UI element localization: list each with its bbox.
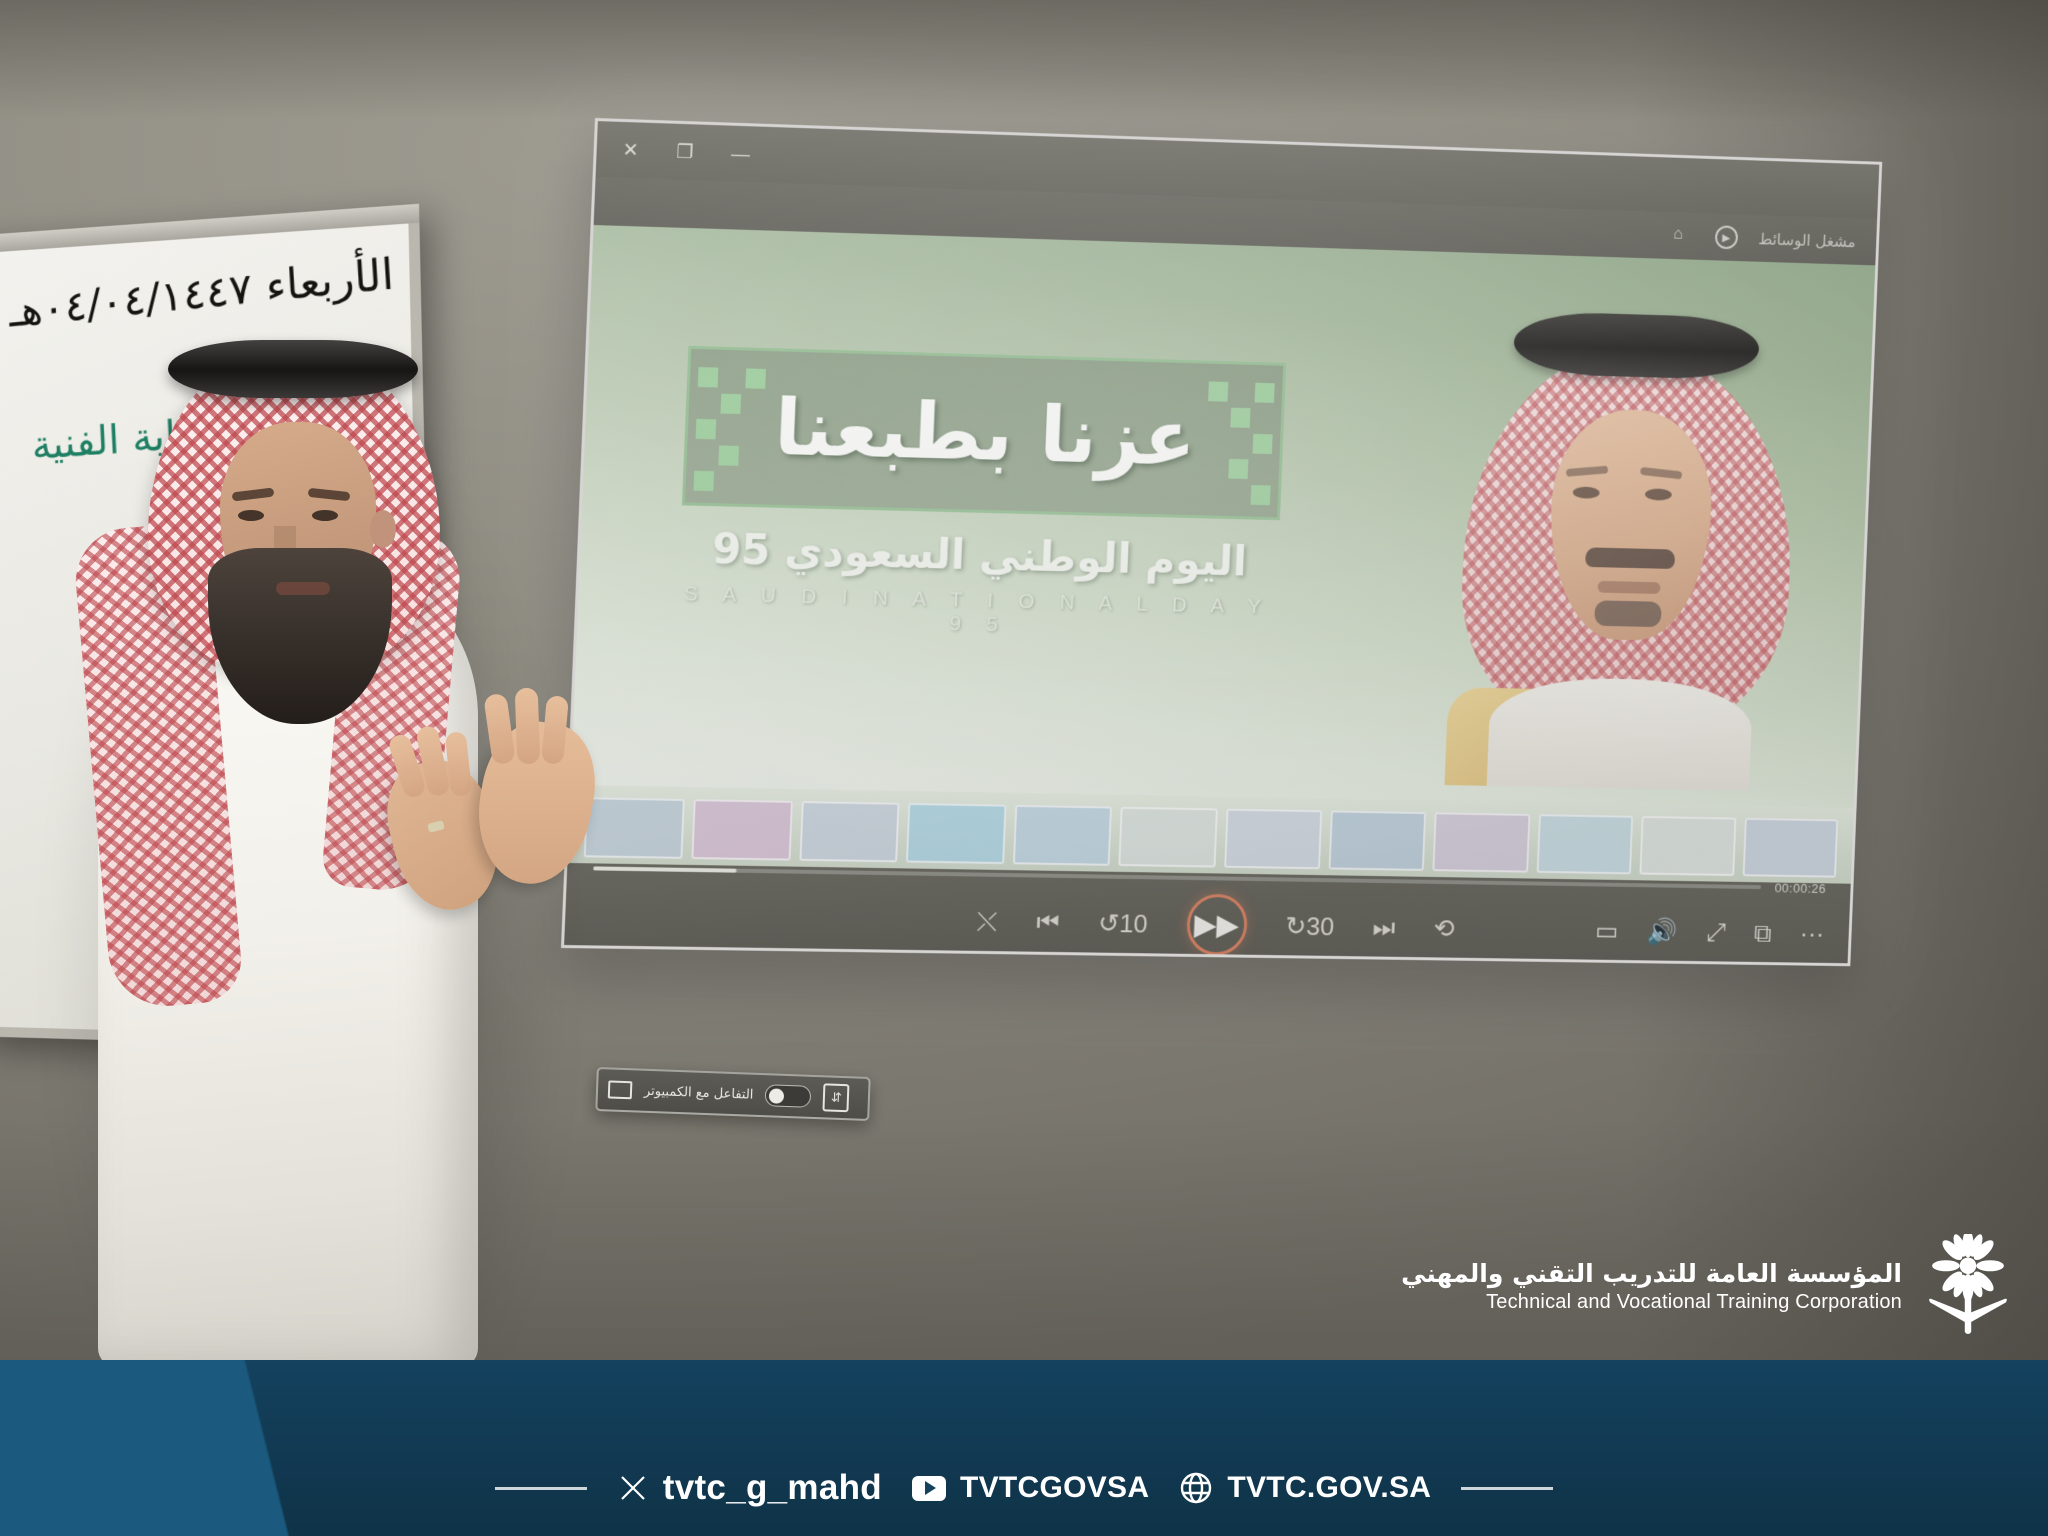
video-thumbnail-8[interactable]	[1329, 810, 1427, 870]
rewind-10-icon[interactable]: ↺10	[1098, 910, 1148, 936]
player-transport-bar: 00:00:26 ⤬ ⏮ ↺10 ▶▶ ↻30 ⏭ ⟲ ▭ 🔊 ⤢ ⧉ ···	[563, 863, 1851, 966]
play-button[interactable]: ▶▶	[1185, 894, 1248, 956]
seek-progress	[593, 866, 737, 872]
king-portrait	[1437, 291, 1817, 787]
iwb-label: التفاعل مع الكمبيوتر	[644, 1083, 754, 1102]
presenter-eye-left	[238, 510, 264, 521]
youtube-icon	[912, 1476, 946, 1501]
social-handle-x-twitter: tvtc_g_mahd	[663, 1468, 882, 1508]
app-name-label: مشغل الوسائط	[1758, 229, 1856, 251]
footer-diagonal-accent	[0, 1360, 640, 1536]
presenter-mouth	[276, 582, 330, 595]
video-thumbnail-10[interactable]	[1536, 814, 1633, 874]
portrait-thobe	[1487, 676, 1754, 790]
more-options-icon[interactable]: ···	[1799, 921, 1824, 947]
arabic-motto: عزنا بطبعنا	[773, 383, 1198, 483]
portrait-beard	[1594, 600, 1661, 627]
picture-in-picture-icon[interactable]: ⧉	[1754, 920, 1773, 946]
presenter-finger-r2	[515, 688, 541, 765]
divider-right	[1461, 1487, 1553, 1490]
presenter-agal	[168, 340, 418, 398]
presenter	[40, 330, 560, 1360]
social-handle-website: TVTC.GOV.SA	[1227, 1471, 1431, 1505]
elapsed-time: 00:00:26	[1774, 880, 1826, 895]
portrait-eye-right	[1645, 488, 1672, 500]
brand-name-english: Technical and Vocational Training Corpor…	[1401, 1291, 1902, 1314]
forward-30-icon[interactable]: ↻30	[1285, 913, 1335, 939]
iwb-toggle[interactable]	[765, 1084, 812, 1108]
website-icon	[1179, 1471, 1213, 1505]
portrait-agal	[1513, 311, 1760, 381]
brand-name-arabic: المؤسسة العامة للتدريب التقني والمهني	[1401, 1259, 1902, 1288]
window-controls: ✕ ❐ —	[596, 140, 750, 164]
portrait-moustache	[1585, 547, 1675, 569]
social-link-x-twitter[interactable]: tvtc_g_mahd	[617, 1468, 882, 1508]
brand-text: المؤسسة العامة للتدريب التقني والمهني Te…	[1401, 1259, 1902, 1314]
presenter-eye-right	[312, 510, 338, 521]
shuffle-icon[interactable]: ⤬	[976, 908, 997, 934]
footer-band: المؤسسة العامة للتدريب التقني والمهني Te…	[0, 1360, 2048, 1536]
social-link-website[interactable]: TVTC.GOV.SA	[1179, 1471, 1431, 1505]
video-thumbnail-11[interactable]	[1640, 816, 1736, 876]
previous-icon[interactable]: ⏮	[1036, 909, 1060, 935]
video-thumbnail-3[interactable]	[799, 801, 900, 862]
video-thumbnail-5[interactable]	[1013, 805, 1112, 866]
whiteboard-date: الأربعاء ٠٤/٠٤/١٤٤٧هـ	[8, 249, 396, 337]
fullscreen-icon[interactable]: ⤢	[1705, 919, 1726, 945]
video-thumbnail-1[interactable]	[584, 797, 686, 859]
divider-left	[495, 1487, 587, 1490]
video-thumbnail-12[interactable]	[1742, 818, 1838, 878]
x-twitter-icon	[617, 1472, 649, 1504]
maximize-icon[interactable]: ❐	[676, 142, 694, 162]
social-links-row: tvtc_g_mahdTVTCGOVSATVTC.GOV.SA	[0, 1468, 2048, 1508]
screen-icon[interactable]	[608, 1080, 633, 1099]
portrait-lip	[1597, 581, 1660, 594]
video-thumbnail-4[interactable]	[906, 803, 1006, 864]
presenter-ear	[370, 510, 396, 548]
social-link-youtube[interactable]: TVTCGOVSA	[912, 1471, 1149, 1505]
palm-emblem-icon	[1922, 1234, 2014, 1338]
social-handle-youtube: TVTCGOVSA	[960, 1471, 1149, 1505]
iwb-lock-icon[interactable]: ⇵	[823, 1083, 850, 1112]
video-thumbnail-9[interactable]	[1433, 812, 1530, 872]
close-icon[interactable]: ✕	[622, 140, 639, 159]
motto-frame: عزنا بطبعنا	[682, 346, 1286, 520]
subtitles-icon[interactable]: ▭	[1595, 918, 1619, 944]
video-thumbnail-6[interactable]	[1118, 807, 1217, 868]
home-icon[interactable]: ⌂	[1673, 225, 1695, 247]
player-secondary-controls: ▭ 🔊 ⤢ ⧉ ···	[1595, 918, 1825, 947]
national-day-slide: عزنا بطبعنا اليوم الوطني السعودي 95 S A …	[571, 225, 1876, 808]
play-badge-icon: ▶	[1714, 225, 1738, 249]
national-day-logo: عزنا بطبعنا اليوم الوطني السعودي 95 S A …	[677, 346, 1286, 643]
screenshot-root: الأربعاء ٠٤/٠٤/١٤٤٧هـ المقرر : الكتابة ا…	[0, 0, 2048, 1536]
volume-icon[interactable]: 🔊	[1646, 918, 1678, 944]
minimize-icon[interactable]: —	[731, 144, 751, 164]
arabic-subtitle: اليوم الوطني السعودي 95	[679, 523, 1279, 586]
iwb-toggle-knob	[769, 1088, 785, 1104]
projection-screen[interactable]: ✕ ❐ — ⌂ ▶ مشغل الوسائط عزنا بطبعنا اليوم…	[561, 118, 1882, 966]
video-thumbnail-7[interactable]	[1224, 809, 1322, 870]
video-thumbnail-2[interactable]	[692, 799, 793, 860]
tvtc-brand-lockup: المؤسسة العامة للتدريب التقني والمهني Te…	[1401, 1234, 2014, 1338]
repeat-icon[interactable]: ⟲	[1433, 915, 1455, 941]
next-icon[interactable]: ⏭	[1372, 914, 1396, 940]
